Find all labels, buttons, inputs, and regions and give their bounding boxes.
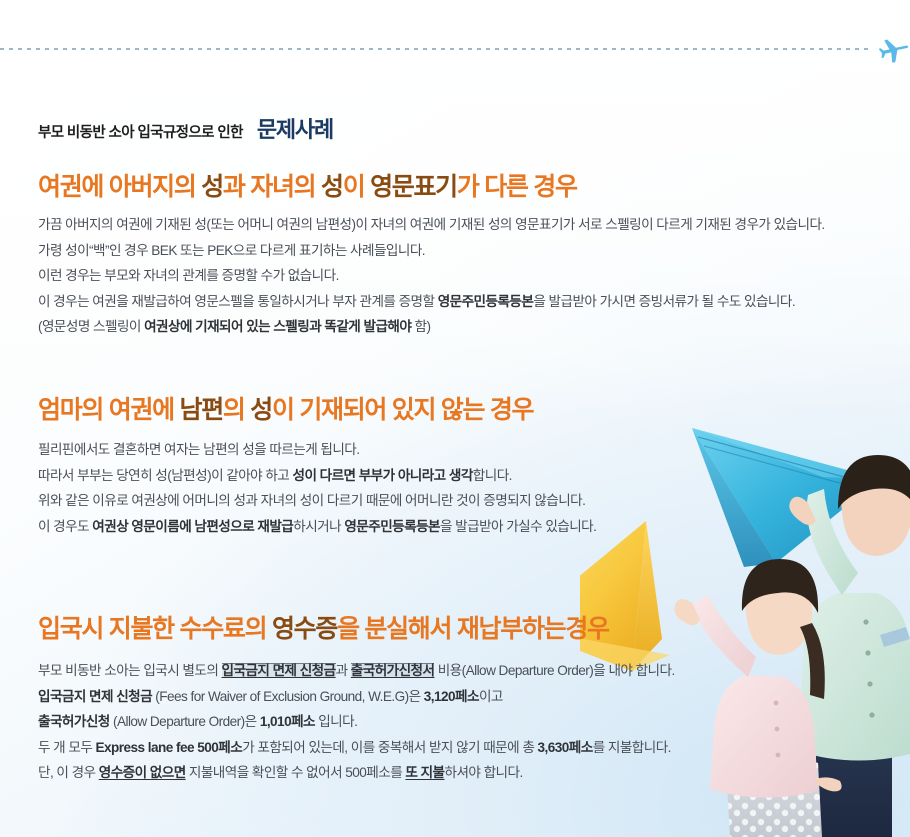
- text-run: 또 지불: [405, 765, 444, 780]
- text-run: 부모 비동반 소아는 입국시 별도의: [38, 663, 222, 678]
- text-run: 이 경우는 여권을 재발급하여 영문스펠을 통일하시거나 부자 관계를 증명할: [38, 294, 438, 309]
- section-body-1: 가끔 아버지의 여권에 기재된 성(또는 어머니 여권의 남편성)이 자녀의 여…: [38, 212, 825, 340]
- text-run: 과: [336, 663, 351, 678]
- text-run: (Fees for Waiver of Exclusion Ground, W.…: [152, 689, 409, 704]
- text-run: 가 포함되어 있는데, 이를 중복해서 받지 않기 때문에 총: [242, 740, 537, 755]
- text-run: 은: [245, 714, 260, 729]
- text-run: 입국금지 면제 신청금: [38, 689, 152, 704]
- text-run: 영문주민등록등본: [344, 519, 440, 534]
- heading-run: 가 다른 경우: [457, 173, 577, 201]
- text-run: 성이 다르면 부부가 아니라고 생각: [292, 468, 472, 483]
- text-run: 여권상에 기재되어 있는 스펠링과 똑같게 발급해야: [144, 319, 411, 334]
- text-run: 합니다.: [473, 468, 512, 483]
- heading-run: 의: [223, 396, 250, 424]
- heading-run: 을 분실해서 재납부하는경우: [337, 615, 609, 643]
- heading-run: 성: [250, 396, 272, 424]
- body-line: 따라서 부부는 당연히 성(남편성)이 같아야 하고 성이 다르면 부부가 아니…: [38, 463, 596, 489]
- text-run: 두 개 모두: [38, 740, 96, 755]
- text-run: 지불내역을 확인할 수 없어서 500페소를: [186, 765, 406, 780]
- text-run: 필리핀에서도 결혼하면 여자는 남편의 성을 따르는게 됩니다.: [38, 442, 360, 457]
- heading-run: 이 기재되어 있지 않는 경우: [272, 396, 533, 424]
- heading-run: 과 자녀의: [223, 173, 321, 201]
- heading-run: 영문표기: [370, 173, 457, 201]
- text-run: 하시거나: [293, 519, 344, 534]
- text-run: 따라서 부부는 당연히 성(남편성)이 같아야 하고: [38, 468, 292, 483]
- header-kicker-row: 부모 비동반 소아 입국규정으로 인한 문제사례: [38, 112, 333, 144]
- text-run: 여권상 영문이름에 남편성으로 재발급: [92, 519, 293, 534]
- body-line: 가령 성이“백”인 경우 BEK 또는 PEK으로 다르게 표기하는 사례들입니…: [38, 238, 825, 264]
- heading-run: 남편: [180, 396, 223, 424]
- text-run: 출국허가신청서: [351, 663, 435, 678]
- heading-run: 여권에 아버지의: [38, 173, 201, 201]
- heading-run: 영수증: [272, 615, 337, 643]
- page-kicker: 부모 비동반 소아 입국규정으로 인한: [38, 121, 243, 142]
- text-run: 위와 같은 이유로 여권상에 어머니의 성과 자녀의 성이 다르기 때문에 어머…: [38, 493, 585, 508]
- text-run: 을 발급받아 가실수 있습니다.: [440, 519, 596, 534]
- heading-run: 엄마의 여권에: [38, 396, 180, 424]
- body-line: 이런 경우는 부모와 자녀의 관계를 증명할 수가 없습니다.: [38, 263, 825, 289]
- section-body-2: 필리핀에서도 결혼하면 여자는 남편의 성을 따르는게 됩니다.따라서 부부는 …: [38, 437, 596, 539]
- text-run: Express lane fee 500페소: [96, 740, 243, 755]
- section-body-3: 부모 비동반 소아는 입국시 별도의 입국금지 면제 신청금과 출국허가신청서 …: [38, 658, 675, 786]
- body-line: (영문성명 스펠링이 여권상에 기재되어 있는 스펠링과 똑같게 발급해야 함): [38, 314, 825, 340]
- text-run: 단, 이 경우: [38, 765, 99, 780]
- heading-run: 입국시 지불한 수수료의: [38, 615, 272, 643]
- text-run: 입니다.: [315, 714, 357, 729]
- text-run: 출국허가신청: [38, 714, 110, 729]
- body-line: 가끔 아버지의 여권에 기재된 성(또는 어머니 여권의 남편성)이 자녀의 여…: [38, 212, 825, 238]
- body-line: 단, 이 경우 영수증이 없으면 지불내역을 확인할 수 없어서 500페소를 …: [38, 760, 675, 786]
- text-run: (Allow Departure Order): [110, 714, 245, 729]
- text-run: 영수증이 없으면: [99, 765, 186, 780]
- text-run: 3,630페소: [538, 740, 593, 755]
- section-heading-1: 여권에 아버지의 성과 자녀의 성이 영문표기가 다른 경우: [38, 167, 577, 203]
- body-line: 위와 같은 이유로 여권상에 어머니의 성과 자녀의 성이 다르기 때문에 어머…: [38, 488, 596, 514]
- heading-run: 이: [343, 173, 370, 201]
- body-line: 부모 비동반 소아는 입국시 별도의 입국금지 면제 신청금과 출국허가신청서 …: [38, 658, 675, 684]
- body-line: 이 경우도 여권상 영문이름에 남편성으로 재발급하시거나 영문주민등록등본을 …: [38, 514, 596, 540]
- body-line: 필리핀에서도 결혼하면 여자는 남편의 성을 따르는게 됩니다.: [38, 437, 596, 463]
- article-content: 부모 비동반 소아 입국규정으로 인한 문제사례 여권에 아버지의 성과 자녀의…: [0, 0, 910, 837]
- body-line: 출국허가신청 (Allow Departure Order)은 1,010페소 …: [38, 709, 675, 735]
- text-run: 를 지불합니다.: [593, 740, 671, 755]
- text-run: 이런 경우는 부모와 자녀의 관계를 증명할 수가 없습니다.: [38, 268, 339, 283]
- body-line: 이 경우는 여권을 재발급하여 영문스펠을 통일하시거나 부자 관계를 증명할 …: [38, 289, 825, 315]
- text-run: 이 경우도: [38, 519, 92, 534]
- section-heading-3: 입국시 지불한 수수료의 영수증을 분실해서 재납부하는경우: [38, 609, 609, 645]
- text-run: 을 발급받아 가시면 증빙서류가 될 수도 있습니다.: [533, 294, 795, 309]
- page-title: 문제사례: [257, 112, 333, 144]
- text-run: 은: [409, 689, 424, 704]
- body-line: 입국금지 면제 신청금 (Fees for Waiver of Exclusio…: [38, 684, 675, 710]
- text-run: 영문주민등록등본: [438, 294, 534, 309]
- text-run: (영문성명 스펠링이: [38, 319, 144, 334]
- text-run: 1,010페소: [260, 714, 315, 729]
- text-run: 비용(Allow Departure Order)을 내야 합니다.: [434, 663, 674, 678]
- text-run: 함): [411, 319, 430, 334]
- heading-run: 성: [201, 173, 223, 201]
- heading-run: 성: [321, 173, 343, 201]
- text-run: 이고: [479, 689, 503, 704]
- body-line: 두 개 모두 Express lane fee 500페소가 포함되어 있는데,…: [38, 735, 675, 761]
- text-run: 3,120페소: [424, 689, 479, 704]
- text-run: 가령 성이“백”인 경우 BEK 또는 PEK으로 다르게 표기하는 사례들입니…: [38, 243, 425, 258]
- text-run: 가끔 아버지의 여권에 기재된 성(또는 어머니 여권의 남편성)이 자녀의 여…: [38, 217, 825, 232]
- section-heading-2: 엄마의 여권에 남편의 성이 기재되어 있지 않는 경우: [38, 390, 533, 426]
- text-run: 하셔야 합니다.: [445, 765, 523, 780]
- text-run: 입국금지 면제 신청금: [222, 663, 336, 678]
